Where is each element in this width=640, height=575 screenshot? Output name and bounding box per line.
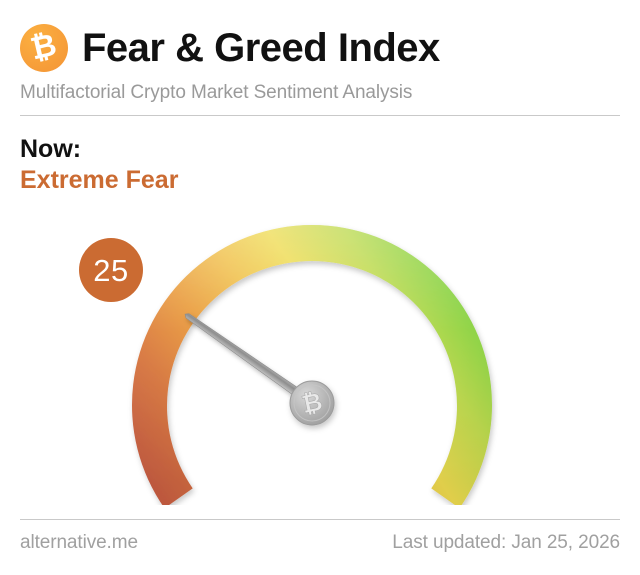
index-value-badge: 25 [79,238,143,302]
bitcoin-glyph: ₿ [28,29,60,65]
bitcoin-icon: ₿ [20,24,68,72]
fear-greed-index-widget: ₿ Fear & Greed Index Multifactorial Cryp… [0,0,640,575]
index-value: 25 [93,255,128,286]
now-label: Now: [20,135,81,164]
header: ₿ Fear & Greed Index [20,16,620,80]
page-subtitle: Multifactorial Crypto Market Sentiment A… [20,82,412,104]
gauge-arc [132,225,492,505]
footer-divider [20,519,620,520]
page-title: Fear & Greed Index [82,28,440,68]
sentiment-label: Extreme Fear [20,166,178,195]
last-updated: Last updated: Jan 25, 2026 [392,532,620,554]
source-link[interactable]: alternative.me [20,532,138,554]
header-divider [20,115,620,116]
